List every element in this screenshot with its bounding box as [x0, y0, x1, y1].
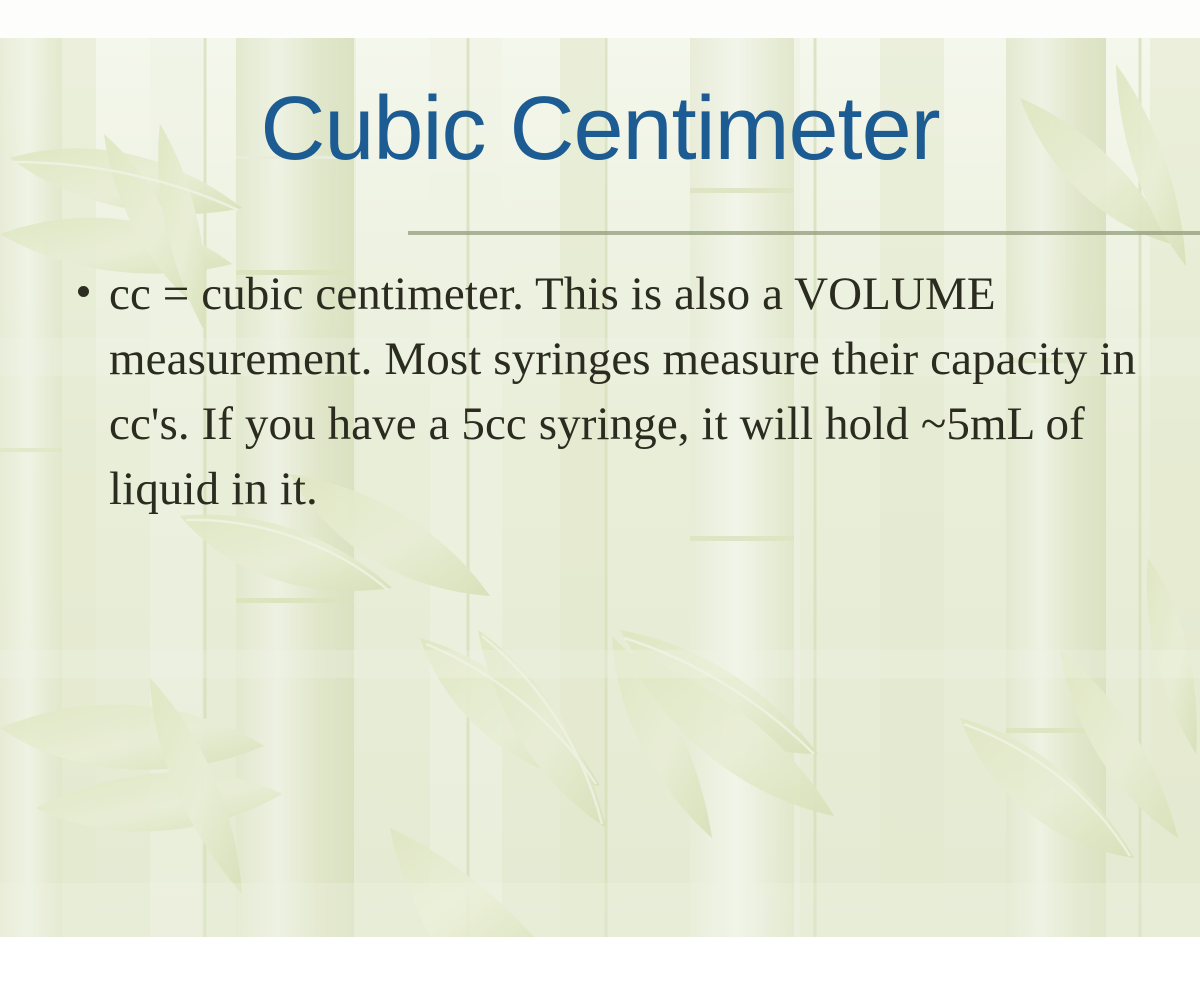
title-divider: [408, 231, 1200, 235]
page-title: Cubic Centimeter: [0, 84, 1200, 174]
list-item: cc = cubic centimeter. This is also a VO…: [78, 262, 1163, 522]
bullet-dot-icon: [78, 286, 89, 297]
slide-content: Cubic Centimeter cc = cubic centimeter. …: [0, 0, 1200, 981]
slide: Cubic Centimeter cc = cubic centimeter. …: [0, 0, 1200, 981]
body-content: cc = cubic centimeter. This is also a VO…: [78, 262, 1163, 522]
bullet-text: cc = cubic centimeter. This is also a VO…: [109, 262, 1163, 522]
